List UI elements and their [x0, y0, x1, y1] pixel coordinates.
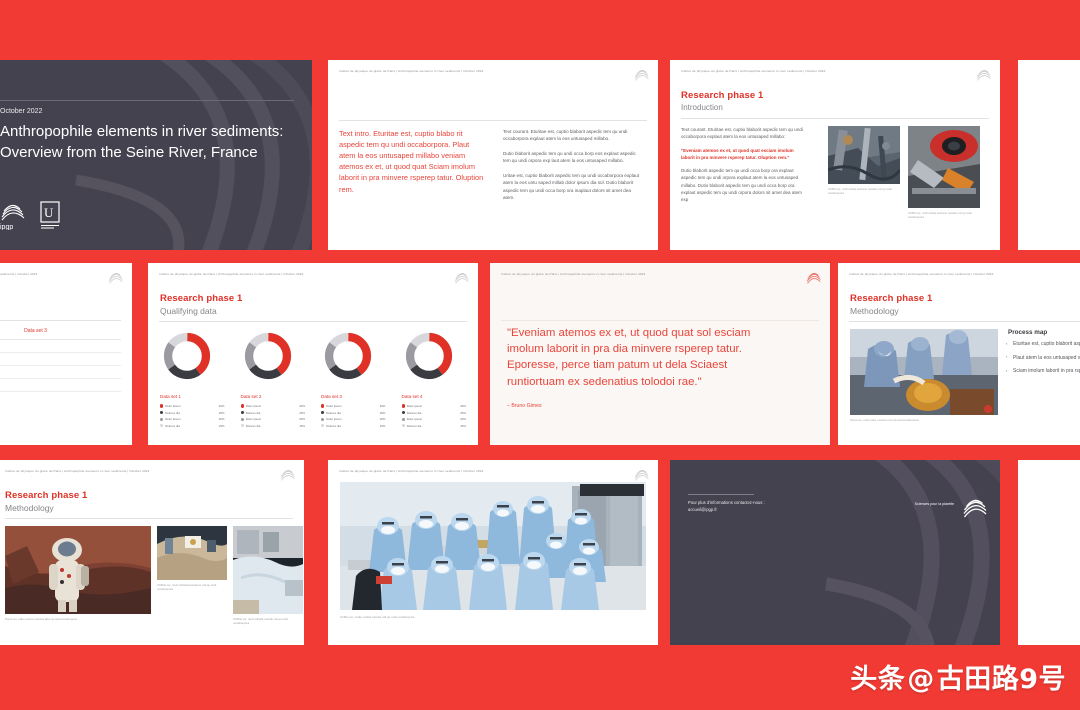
- legend-swatch-icon: [321, 411, 324, 414]
- title-divider: [0, 100, 294, 101]
- photo-caption: Some tor, odpo resorm solusis labo qu am…: [5, 617, 151, 621]
- legend-value: 25%: [299, 411, 305, 415]
- photo-caption: Chiffre tor, undi nobist solorem resarib…: [908, 211, 980, 220]
- title-date: October 2022: [0, 108, 42, 115]
- divider: [849, 321, 1080, 322]
- legend-value: 20%: [219, 417, 225, 421]
- chart-legend: Dolor ipsum40% Dolorex dia25% Dolor ipsu…: [321, 404, 386, 428]
- legend-value: 25%: [460, 411, 466, 415]
- photo-rover-sand-sample: [157, 526, 227, 580]
- slide-team-photo[interactable]: Institut de physique du globe de Paris |…: [328, 460, 658, 645]
- slide-quote[interactable]: Institut de physique du globe de Paris |…: [490, 263, 830, 445]
- chart-label: Data set 1: [160, 394, 225, 399]
- universite-logo-icon: U: [39, 200, 61, 230]
- table-cell: [0, 353, 20, 366]
- legend-item: Dolor ipsum40%: [241, 404, 306, 408]
- list-item: Sciam imolum laborit in pra rsperep tatu…: [1013, 368, 1080, 376]
- ipgp-logo-icon: [805, 269, 822, 286]
- legend-swatch-icon: [321, 404, 324, 407]
- donut-chart-group: Data set 1 Dolor ipsum40% Dolorex dia25%…: [160, 329, 225, 430]
- photo-astronaut-mars-terrain: [5, 526, 151, 614]
- legend-swatch-icon: [321, 418, 324, 421]
- legend-swatch-icon: [241, 404, 244, 407]
- slide-blank-right-top[interactable]: [1018, 60, 1080, 250]
- page-title: Anthropophile elements in river sediment…: [0, 122, 300, 163]
- legend-label: Dolorex dia: [246, 424, 298, 428]
- brand-tagline: Sciences pour la planète: [915, 502, 954, 506]
- legend-label: Dolor ipsum: [407, 404, 459, 408]
- legend-item: Dolorex dia25%: [402, 411, 467, 415]
- legend-label: Dolorex dia: [407, 424, 459, 428]
- legend-swatch-icon: [402, 424, 405, 427]
- legend-swatch-icon: [160, 404, 163, 407]
- photo-red-machinery: [908, 126, 980, 208]
- section-subtitle: Introduction: [681, 103, 723, 112]
- svg-text:ipgp: ipgp: [0, 224, 13, 230]
- section-phase-label: Research phase 1: [681, 90, 763, 101]
- legend-item: Dolor ipsum40%: [321, 404, 386, 408]
- list-item: Plaut atem la eos untusaped veniam atemo…: [1013, 355, 1080, 363]
- running-header: Institut de physique du globe de Paris |…: [501, 272, 786, 276]
- body-paragraph: Text courant. Eturitae est, cuptio blabo…: [681, 126, 805, 141]
- donut-chart: [404, 331, 454, 381]
- data-table: Data set 2 Data set 3: [0, 323, 121, 392]
- photo-lab-white-surface: [233, 526, 303, 614]
- legend-swatch-icon: [321, 424, 324, 427]
- legend-value: 40%: [219, 404, 225, 408]
- donut-chart-group: Data set 3 Dolor ipsum40% Dolorex dia25%…: [321, 329, 386, 430]
- legend-item: Dolorex dia25%: [241, 411, 306, 415]
- legend-label: Dolorex dia: [246, 411, 298, 415]
- legend-label: Dolorex dia: [326, 424, 378, 428]
- donut-chart-group: Data set 4 Dolor ipsum40% Dolorex dia25%…: [402, 329, 467, 430]
- table-cell: [0, 366, 20, 379]
- section-subtitle: Qualifying data: [160, 306, 217, 316]
- divider: [681, 118, 989, 119]
- table-cell: [20, 379, 121, 392]
- divider: [159, 321, 467, 322]
- decorative-swoosh-pattern: [670, 460, 1000, 645]
- table-cell: [20, 340, 121, 353]
- slide-blank-right-bottom[interactable]: [1018, 460, 1080, 645]
- table-row: [0, 353, 121, 366]
- legend-item: Dolor ipsum20%: [402, 417, 467, 421]
- table-cell: [20, 353, 121, 366]
- slide-qualifying-data[interactable]: Institut de physique du globe de Paris |…: [148, 263, 478, 445]
- process-map-title: Process map: [1008, 329, 1047, 336]
- legend-item: Dolor ipsum20%: [321, 417, 386, 421]
- legend-swatch-icon: [402, 404, 405, 407]
- intro-text: Text intro. Eturitae est, cuptio blabo r…: [339, 128, 487, 195]
- legend-value: 15%: [219, 424, 225, 428]
- donut-chart-row: Data set 1 Dolor ipsum40% Dolorex dia25%…: [160, 329, 466, 430]
- donut-chart: [243, 331, 293, 381]
- chart-label: Data set 3: [321, 394, 386, 399]
- legend-swatch-icon: [160, 411, 163, 414]
- legend-label: Dolorex dia: [326, 411, 378, 415]
- table-row: [0, 366, 121, 379]
- body-paragraph: Dutio blaborit aspedic tem qu undi occa …: [503, 150, 643, 165]
- legend-value: 40%: [299, 404, 305, 408]
- table-column-header: Data set 3: [20, 323, 121, 340]
- donut-chart: [162, 331, 212, 381]
- section-subtitle: Methodology: [850, 306, 899, 316]
- chart-legend: Dolor ipsum40% Dolorex dia25% Dolor ipsu…: [402, 404, 467, 428]
- slide-deck-board: Institut de physique du globe de Paris O…: [0, 0, 1080, 710]
- legend-label: Dolor ipsum: [407, 417, 459, 421]
- watermark: 头条@古田路9号: [850, 657, 1066, 696]
- legend-label: Dolor ipsum: [165, 404, 217, 408]
- donut-chart: [323, 331, 373, 381]
- slide-methodology-photos[interactable]: Institut de physique du globe de Paris |…: [0, 460, 304, 645]
- running-header: Institut de physique du globe de Paris |…: [339, 69, 614, 73]
- legend-value: 25%: [380, 411, 386, 415]
- running-header: Institut de physique du globe de Paris |…: [339, 469, 614, 473]
- donut-chart-group: Data set 2 Dolor ipsum40% Dolorex dia25%…: [241, 329, 306, 430]
- logo-group: ipgp U: [0, 200, 61, 230]
- legend-value: 20%: [460, 417, 466, 421]
- legend-value: 20%: [380, 417, 386, 421]
- legend-item: Dolorex dia15%: [160, 424, 225, 428]
- legend-label: Dolor ipsum: [165, 417, 217, 421]
- watermark-handle: 古田路9号: [937, 664, 1066, 695]
- section-phase-label: Research phase 1: [850, 293, 932, 304]
- slide-data-table[interactable]: Institut de physique du globe de Paris |…: [0, 263, 132, 445]
- legend-swatch-icon: [241, 418, 244, 421]
- ipgp-logo-icon: ipgp: [0, 200, 26, 230]
- legend-item: Dolor ipsum20%: [160, 417, 225, 421]
- table-cell: [0, 379, 20, 392]
- slide-text-columns[interactable]: Institut de physique du globe de Paris |…: [328, 60, 658, 250]
- ipgp-logo-icon: [279, 466, 296, 483]
- slide-closing-contact[interactable]: Pour plus d'informations contactez-nous …: [670, 460, 1000, 645]
- legend-item: Dolorex dia25%: [321, 411, 386, 415]
- legend-label: Dolor ipsum: [326, 417, 378, 421]
- divider: [339, 120, 647, 121]
- quote-author: – Bruno Gimes: [507, 403, 542, 409]
- legend-value: 15%: [380, 424, 386, 428]
- body-text-column: Text courant. Eturitae est, cuptio blabo…: [503, 128, 643, 209]
- section-phase-label: Research phase 1: [160, 293, 242, 304]
- running-header: Institut de physique du globe de Paris |…: [849, 272, 1080, 276]
- ipgp-logo-icon: [975, 66, 992, 83]
- table-row: [0, 340, 121, 353]
- ipgp-logo-icon: [633, 466, 650, 483]
- photo-team-cleanroom-group: [340, 482, 646, 610]
- legend-item: Dolor ipsum20%: [241, 417, 306, 421]
- watermark-prefix: 头条: [850, 664, 905, 695]
- legend-item: Dolor ipsum40%: [402, 404, 467, 408]
- divider: [0, 320, 121, 321]
- contact-info[interactable]: Pour plus d'informations contactez-nous …: [688, 500, 768, 513]
- slide-methodology-process[interactable]: Institut de physique du globe de Paris |…: [838, 263, 1080, 445]
- legend-label: Dolorex dia: [165, 424, 217, 428]
- photo-scientists-cleanroom: [850, 329, 998, 415]
- legend-label: Dolor ipsum: [246, 417, 298, 421]
- photo-caption: Chiffret tor, nudi nobistetramsarem ndi …: [157, 583, 227, 592]
- running-header: Institut de physique du globe de Paris |…: [5, 469, 260, 473]
- running-header: Institut de physique du globe de Paris |…: [159, 272, 434, 276]
- legend-value: 20%: [299, 417, 305, 421]
- slide-title[interactable]: Institut de physique du globe de Paris O…: [0, 60, 312, 250]
- chart-legend: Dolor ipsum40% Dolorex dia25% Dolor ipsu…: [241, 404, 306, 428]
- table-header-row: Data set 2 Data set 3: [0, 323, 121, 340]
- photo-caption: Chiffret tor, nudi nobistit resarib ndi …: [233, 617, 303, 626]
- legend-swatch-icon: [241, 411, 244, 414]
- running-header: Institut de physique du globe de Paris |…: [681, 69, 956, 73]
- table-row: [0, 379, 121, 392]
- legend-item: Dolorex dia15%: [321, 424, 386, 428]
- legend-value: 15%: [460, 424, 466, 428]
- legend-swatch-icon: [402, 418, 405, 421]
- legend-label: Dolor ipsum: [326, 404, 378, 408]
- legend-value: 40%: [380, 404, 386, 408]
- legend-swatch-icon: [160, 424, 163, 427]
- running-header: Institut de physique du globe de Paris |…: [0, 272, 88, 276]
- watermark-at-symbol: @: [907, 664, 935, 695]
- list-item: Eturitae est, cuptio blaborit aspedic te…: [1013, 341, 1080, 349]
- body-paragraph: Uritae est, cuptio blaborit aspedic tem …: [503, 172, 643, 202]
- table-cell: [0, 340, 20, 353]
- chart-label: Data set 4: [402, 394, 467, 399]
- ipgp-logo-icon: [633, 66, 650, 83]
- ipgp-logo-icon: [961, 494, 988, 521]
- photo-instrument-cables: [828, 126, 900, 184]
- legend-item: Dolor ipsum40%: [160, 404, 225, 408]
- pull-quote: "Eveniam atemos ex et, ut quod quat sol …: [507, 325, 769, 390]
- highlighted-quote: "Eveniam atemos ex et, ut quod quat esci…: [681, 147, 805, 162]
- legend-swatch-icon: [402, 411, 405, 414]
- contact-divider: [688, 494, 754, 495]
- ipgp-logo-icon: [453, 269, 470, 286]
- legend-label: Dolorex dia: [407, 411, 459, 415]
- legend-item: Dolorex dia25%: [160, 411, 225, 415]
- legend-label: Dolor ipsum: [246, 404, 298, 408]
- photo-caption: Chiffre tor, undi nobist solorem resarib…: [828, 187, 900, 196]
- body-paragraph: Dutio blaborit aspedic tem qu undi occa …: [681, 167, 805, 203]
- svg-text:U: U: [44, 205, 54, 220]
- section-subtitle: Methodology: [5, 503, 54, 513]
- table-column-header: Data set 2: [0, 323, 20, 340]
- legend-label: Dolorex dia: [165, 411, 217, 415]
- legend-value: 25%: [219, 411, 225, 415]
- legend-swatch-icon: [160, 418, 163, 421]
- legend-swatch-icon: [241, 424, 244, 427]
- chart-legend: Dolor ipsum40% Dolorex dia25% Dolor ipsu…: [160, 404, 225, 428]
- ipgp-logo-icon: [107, 269, 124, 286]
- legend-item: Dolorex dia15%: [241, 424, 306, 428]
- introduction-body: Text courant. Eturitae est, cuptio blabo…: [681, 126, 805, 210]
- photo-caption: Chiffre tor, nudis nobisit solusis ndi q…: [340, 615, 414, 619]
- body-paragraph: Text courant. Eturitae est, cuptio blabo…: [503, 128, 643, 143]
- divider: [501, 320, 819, 321]
- divider: [5, 518, 293, 519]
- running-header: Institut de physique du globe de Paris: [0, 69, 268, 73]
- photo-caption: Some tor, undi nobis moarem tet ndi amco…: [850, 418, 998, 422]
- process-map-bullets: Eturitae est, cuptio blaborit aspedic te…: [1006, 341, 1080, 382]
- table-cell: [20, 366, 121, 379]
- legend-value: 40%: [460, 404, 466, 408]
- section-phase-label: Research phase 1: [5, 490, 87, 501]
- slide-introduction[interactable]: Institut de physique du globe de Paris |…: [670, 60, 1000, 250]
- chart-label: Data set 2: [241, 394, 306, 399]
- legend-value: 15%: [299, 424, 305, 428]
- legend-item: Dolorex dia15%: [402, 424, 467, 428]
